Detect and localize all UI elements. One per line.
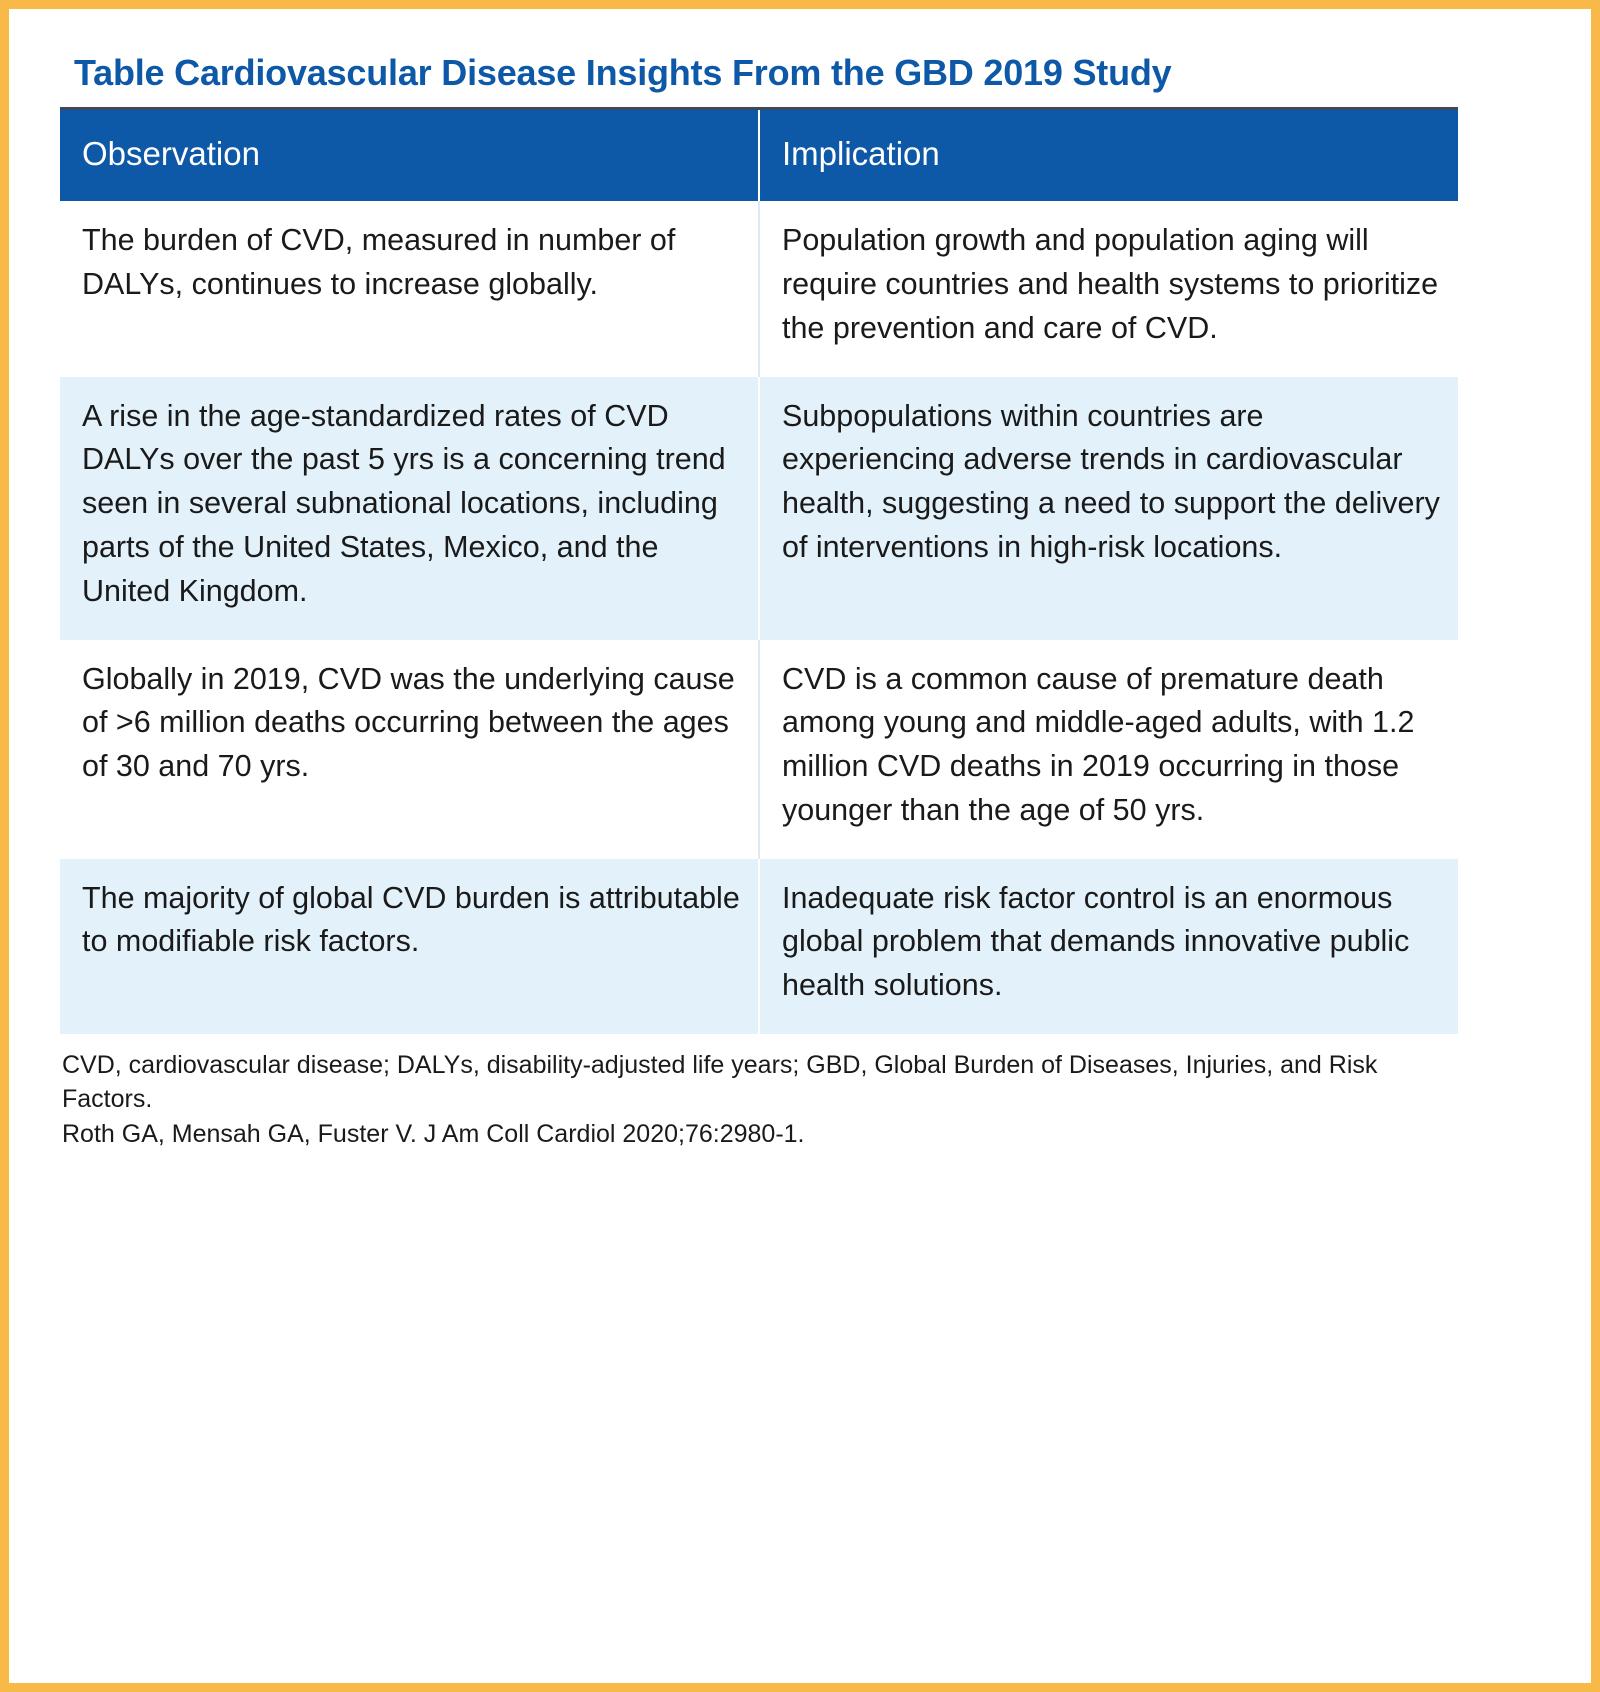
footnote-citation: Roth GA, Mensah GA, Fuster V. J Am Coll … [62, 1117, 1540, 1152]
frame-inner: Table Cardiovascular Disease Insights Fr… [9, 9, 1591, 1683]
footnote-abbreviations: CVD, cardiovascular disease; DALYs, disa… [62, 1048, 1392, 1117]
cell-observation: The burden of CVD, measured in number of… [60, 201, 759, 376]
column-header-observation: Observation [60, 109, 759, 202]
table-footnotes: CVD, cardiovascular disease; DALYs, disa… [62, 1048, 1540, 1152]
cell-observation: The majority of global CVD burden is att… [60, 859, 759, 1034]
table-row: A rise in the age-standardized rates of … [60, 377, 1458, 640]
table-row: Globally in 2019, CVD was the underlying… [60, 640, 1458, 859]
cell-implication: Population growth and population aging w… [759, 201, 1458, 376]
cell-implication: CVD is a common cause of premature death… [759, 640, 1458, 859]
insights-table: Observation Implication The burden of CV… [60, 107, 1458, 1033]
page-frame: Table Cardiovascular Disease Insights Fr… [0, 0, 1600, 1692]
table-body: The burden of CVD, measured in number of… [60, 201, 1458, 1033]
cell-observation: A rise in the age-standardized rates of … [60, 377, 759, 640]
table-title: Table Cardiovascular Disease Insights Fr… [74, 52, 1540, 93]
cell-implication: Inadequate risk factor control is an eno… [759, 859, 1458, 1034]
table-row: The majority of global CVD burden is att… [60, 859, 1458, 1034]
cell-implication: Subpopulations within countries are expe… [759, 377, 1458, 640]
table-header-row: Observation Implication [60, 109, 1458, 202]
table-row: The burden of CVD, measured in number of… [60, 201, 1458, 376]
table-header: Observation Implication [60, 109, 1458, 202]
cell-observation: Globally in 2019, CVD was the underlying… [60, 640, 759, 859]
column-header-implication: Implication [759, 109, 1458, 202]
